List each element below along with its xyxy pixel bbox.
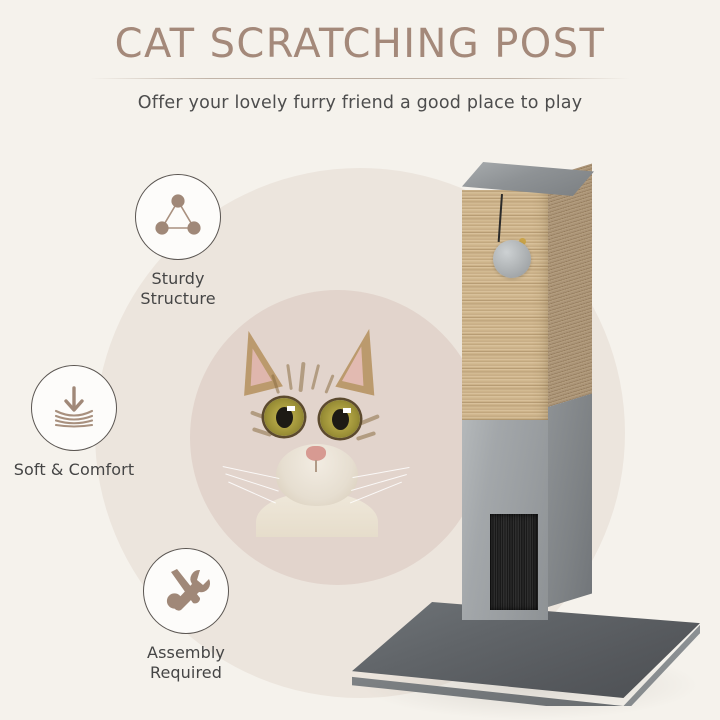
grooming-brush-panel [490, 514, 538, 610]
cat-eye-glint [287, 406, 295, 411]
sisal-wrap-side [548, 164, 592, 407]
page-title: CAT SCRATCHING POST [0, 22, 720, 66]
sisal-wrap-front [462, 190, 548, 420]
pompom-toy-ball [493, 240, 531, 278]
feature-sturdy-structure: Sturdy Structure [132, 174, 224, 309]
cat-mouth [315, 460, 317, 472]
cat-illustration [216, 322, 416, 537]
feature-badge [135, 174, 221, 260]
feature-label: Soft & Comfort [0, 460, 154, 480]
triangle-nodes-icon [151, 190, 205, 244]
product-infographic: CAT SCRATCHING POST Offer your lovely fu… [0, 0, 720, 720]
wrench-screwdriver-icon [159, 563, 213, 619]
page-subtitle: Offer your lovely furry friend a good pl… [0, 93, 720, 113]
post-side-face [548, 142, 592, 607]
cat-portrait-photo [216, 322, 416, 537]
feature-badge [31, 365, 117, 451]
title-divider [90, 78, 630, 79]
arrow-down-cushion-icon [46, 380, 102, 436]
feature-label: Sturdy Structure [132, 269, 224, 309]
feature-label: Assembly Required [140, 643, 232, 683]
feature-badge [143, 548, 229, 634]
plush-column-side [548, 394, 592, 607]
feature-soft-comfort: Soft & Comfort [31, 365, 117, 480]
cat-eye-right [320, 400, 360, 438]
cat-eye-glint [343, 408, 351, 413]
header: CAT SCRATCHING POST Offer your lovely fu… [0, 0, 720, 113]
feature-assembly-required: Assembly Required [140, 548, 232, 683]
cat-eye-left [264, 398, 304, 436]
cat-nose [306, 446, 326, 461]
